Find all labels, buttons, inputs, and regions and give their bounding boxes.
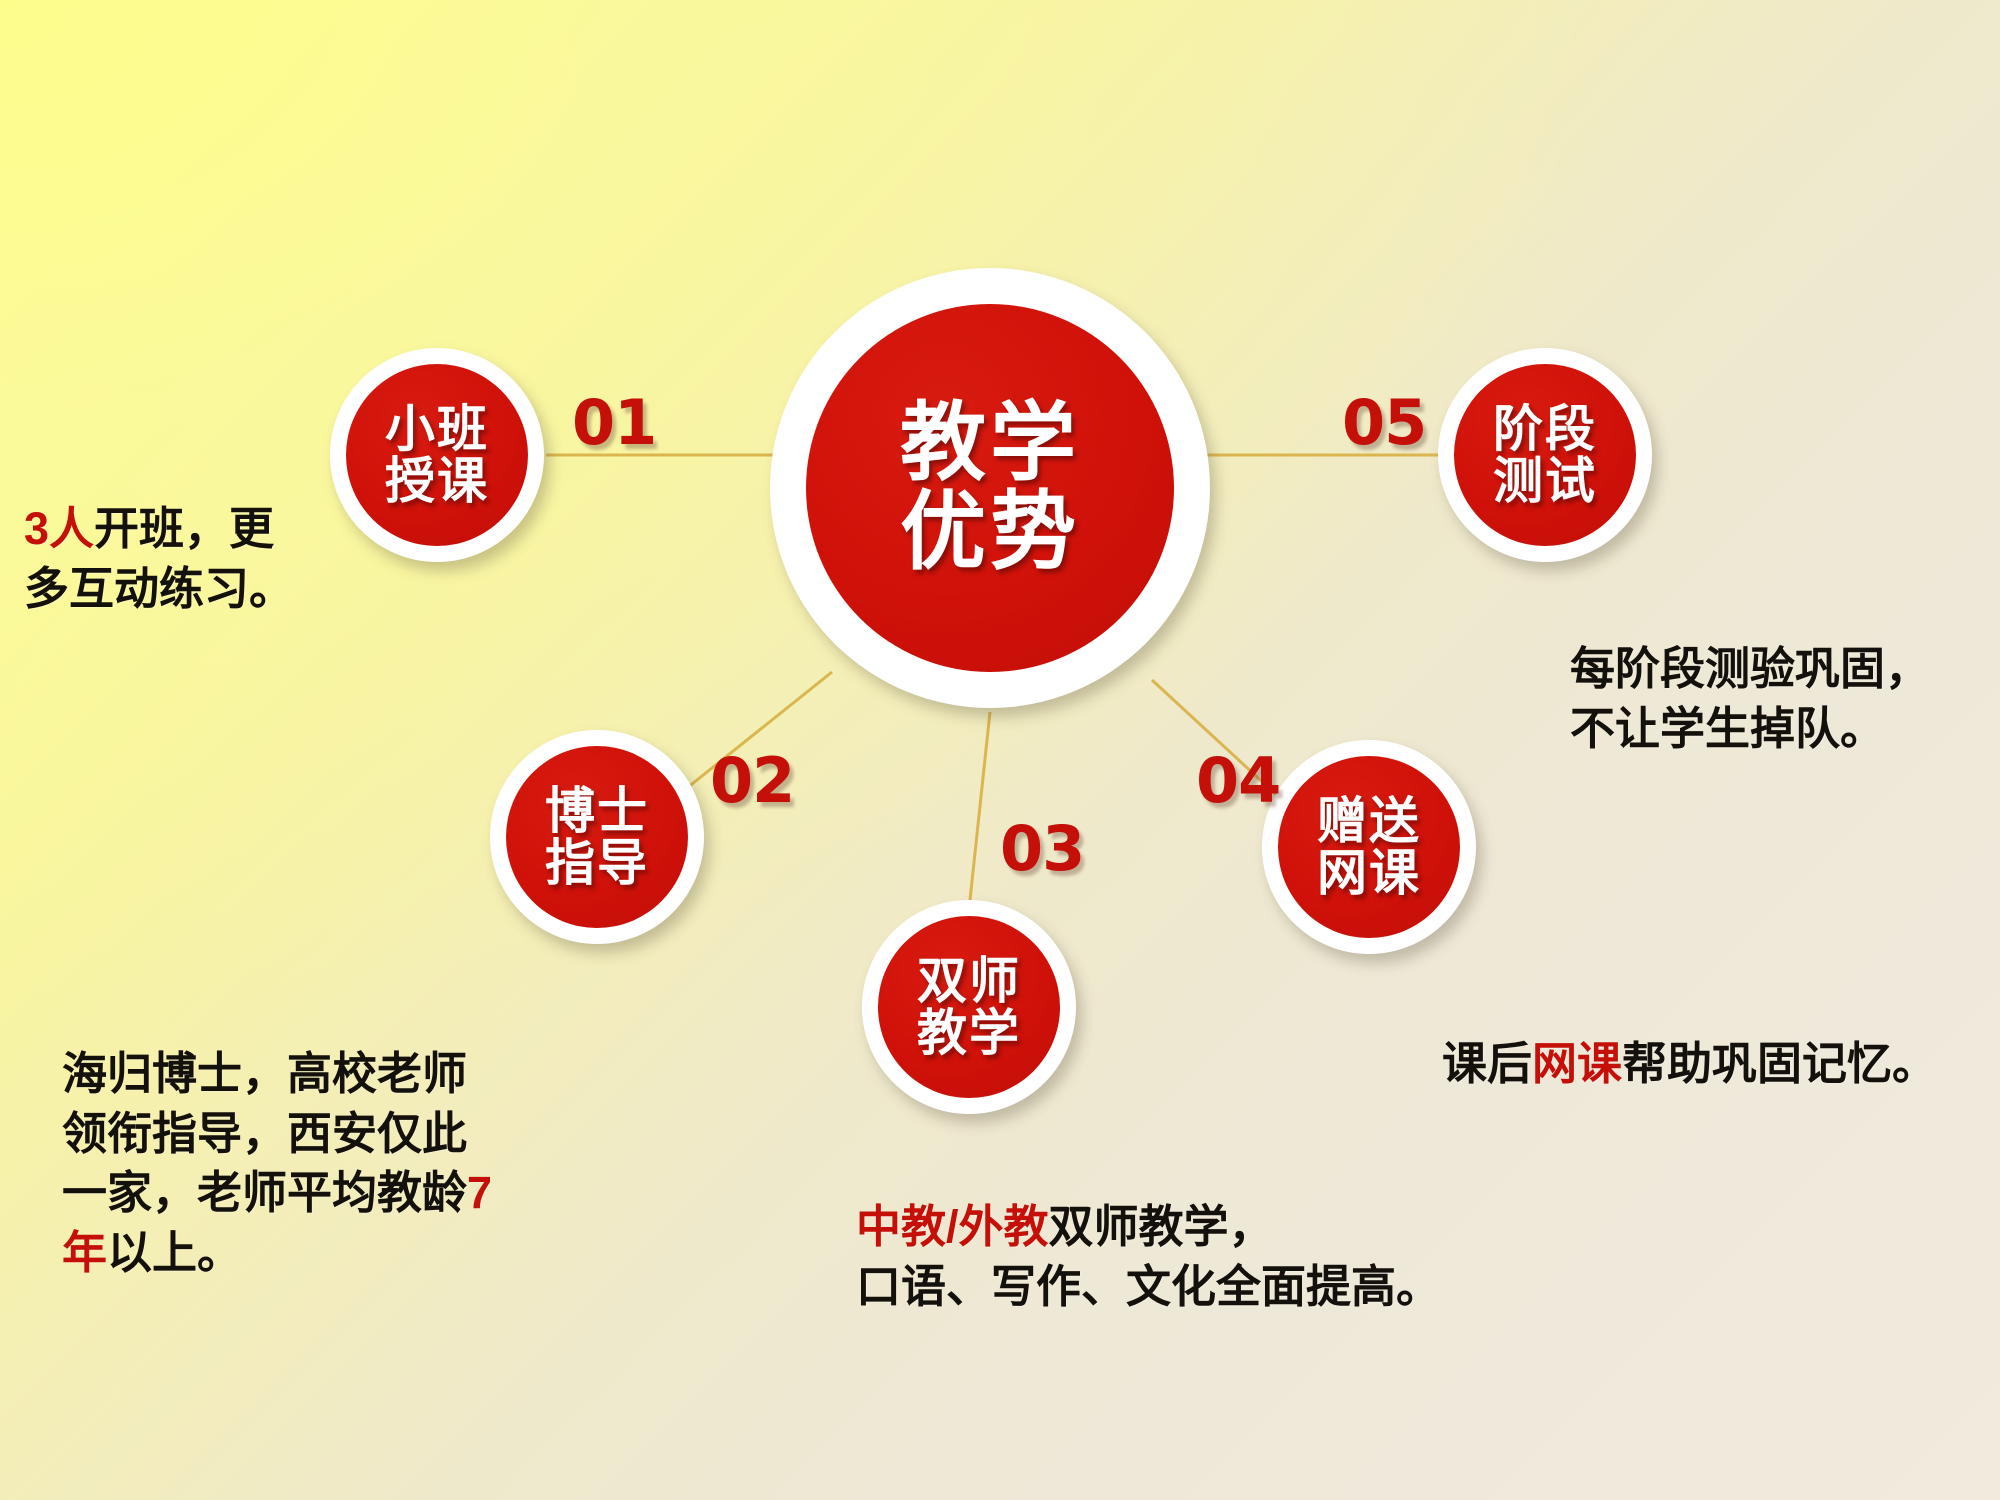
node-01-label-line2: 授课 xyxy=(385,455,489,507)
number-badge-05: 05 xyxy=(1342,386,1426,459)
node-02-label-line1: 博士 xyxy=(545,785,649,837)
node-01-label-line1: 小班 xyxy=(385,403,489,455)
caption-05: 每阶段测验巩固， 不让学生掉队。 xyxy=(1570,580,2000,758)
caption-01-highlight: 3人 xyxy=(24,503,94,554)
node-04-disc: 赠送 网课 xyxy=(1278,756,1460,938)
node-01-disc: 小班 授课 xyxy=(346,364,528,546)
node-05-label-line2: 测试 xyxy=(1493,455,1597,507)
caption-04: 课后网课帮助巩固记忆。 xyxy=(1442,975,2000,1094)
number-badge-04: 04 xyxy=(1196,744,1280,817)
node-05-stage-test[interactable]: 阶段 测试 xyxy=(1438,348,1652,562)
node-03-dual-teacher[interactable]: 双师 教学 xyxy=(862,900,1076,1114)
number-badge-03: 03 xyxy=(1000,812,1084,885)
node-01-small-class[interactable]: 小班 授课 xyxy=(330,348,544,562)
number-badge-01: 01 xyxy=(572,386,656,459)
node-03-label-line2: 教学 xyxy=(917,1007,1021,1059)
node-02-label-line2: 指导 xyxy=(545,837,649,889)
caption-01: 3人开班，更 多互动练习。 xyxy=(24,440,324,618)
caption-05-pre: 每阶段测验巩固， 不让学生掉队。 xyxy=(1570,643,1930,753)
node-03-disc: 双师 教学 xyxy=(878,916,1060,1098)
caption-04-highlight: 网课 xyxy=(1532,1038,1622,1089)
caption-04-post: 帮助巩固记忆。 xyxy=(1622,1038,1937,1089)
center-disc: 教学 优势 xyxy=(806,304,1174,672)
node-03-label-line1: 双师 xyxy=(917,955,1021,1007)
node-04-free-online-course[interactable]: 赠送 网课 xyxy=(1262,740,1476,954)
number-badge-02: 02 xyxy=(710,744,794,817)
caption-02: 海归博士，高校老师 领衔指导，西安仅此 一家，老师平均教龄7 年以上。 xyxy=(62,985,542,1282)
node-04-label-line1: 赠送 xyxy=(1317,795,1421,847)
caption-03-highlight: 中教/外教 xyxy=(856,1201,1049,1252)
infographic-canvas: 教学 优势 小班 授课 博士 指导 双师 教学 赠送 网课 阶段 测试 xyxy=(0,0,2000,1500)
node-05-label-line1: 阶段 xyxy=(1493,403,1597,455)
caption-04-pre: 课后 xyxy=(1442,1038,1532,1089)
caption-02-pre: 海归博士，高校老师 领衔指导，西安仅此 一家，老师平均教龄 xyxy=(62,1048,467,1218)
center-label-line1: 教学 xyxy=(900,399,1080,488)
node-05-disc: 阶段 测试 xyxy=(1454,364,1636,546)
connector-03 xyxy=(970,712,990,900)
node-02-phd-guidance[interactable]: 博士 指导 xyxy=(490,730,704,944)
node-02-disc: 博士 指导 xyxy=(506,746,688,928)
caption-02-post: 以上。 xyxy=(107,1227,242,1278)
center-label-line2: 优势 xyxy=(900,488,1080,577)
node-04-label-line2: 网课 xyxy=(1317,847,1421,899)
caption-03: 中教/外教双师教学， 口语、写作、文化全面提高。 xyxy=(856,1138,1496,1316)
center-node-teaching-advantage[interactable]: 教学 优势 xyxy=(770,268,1210,708)
